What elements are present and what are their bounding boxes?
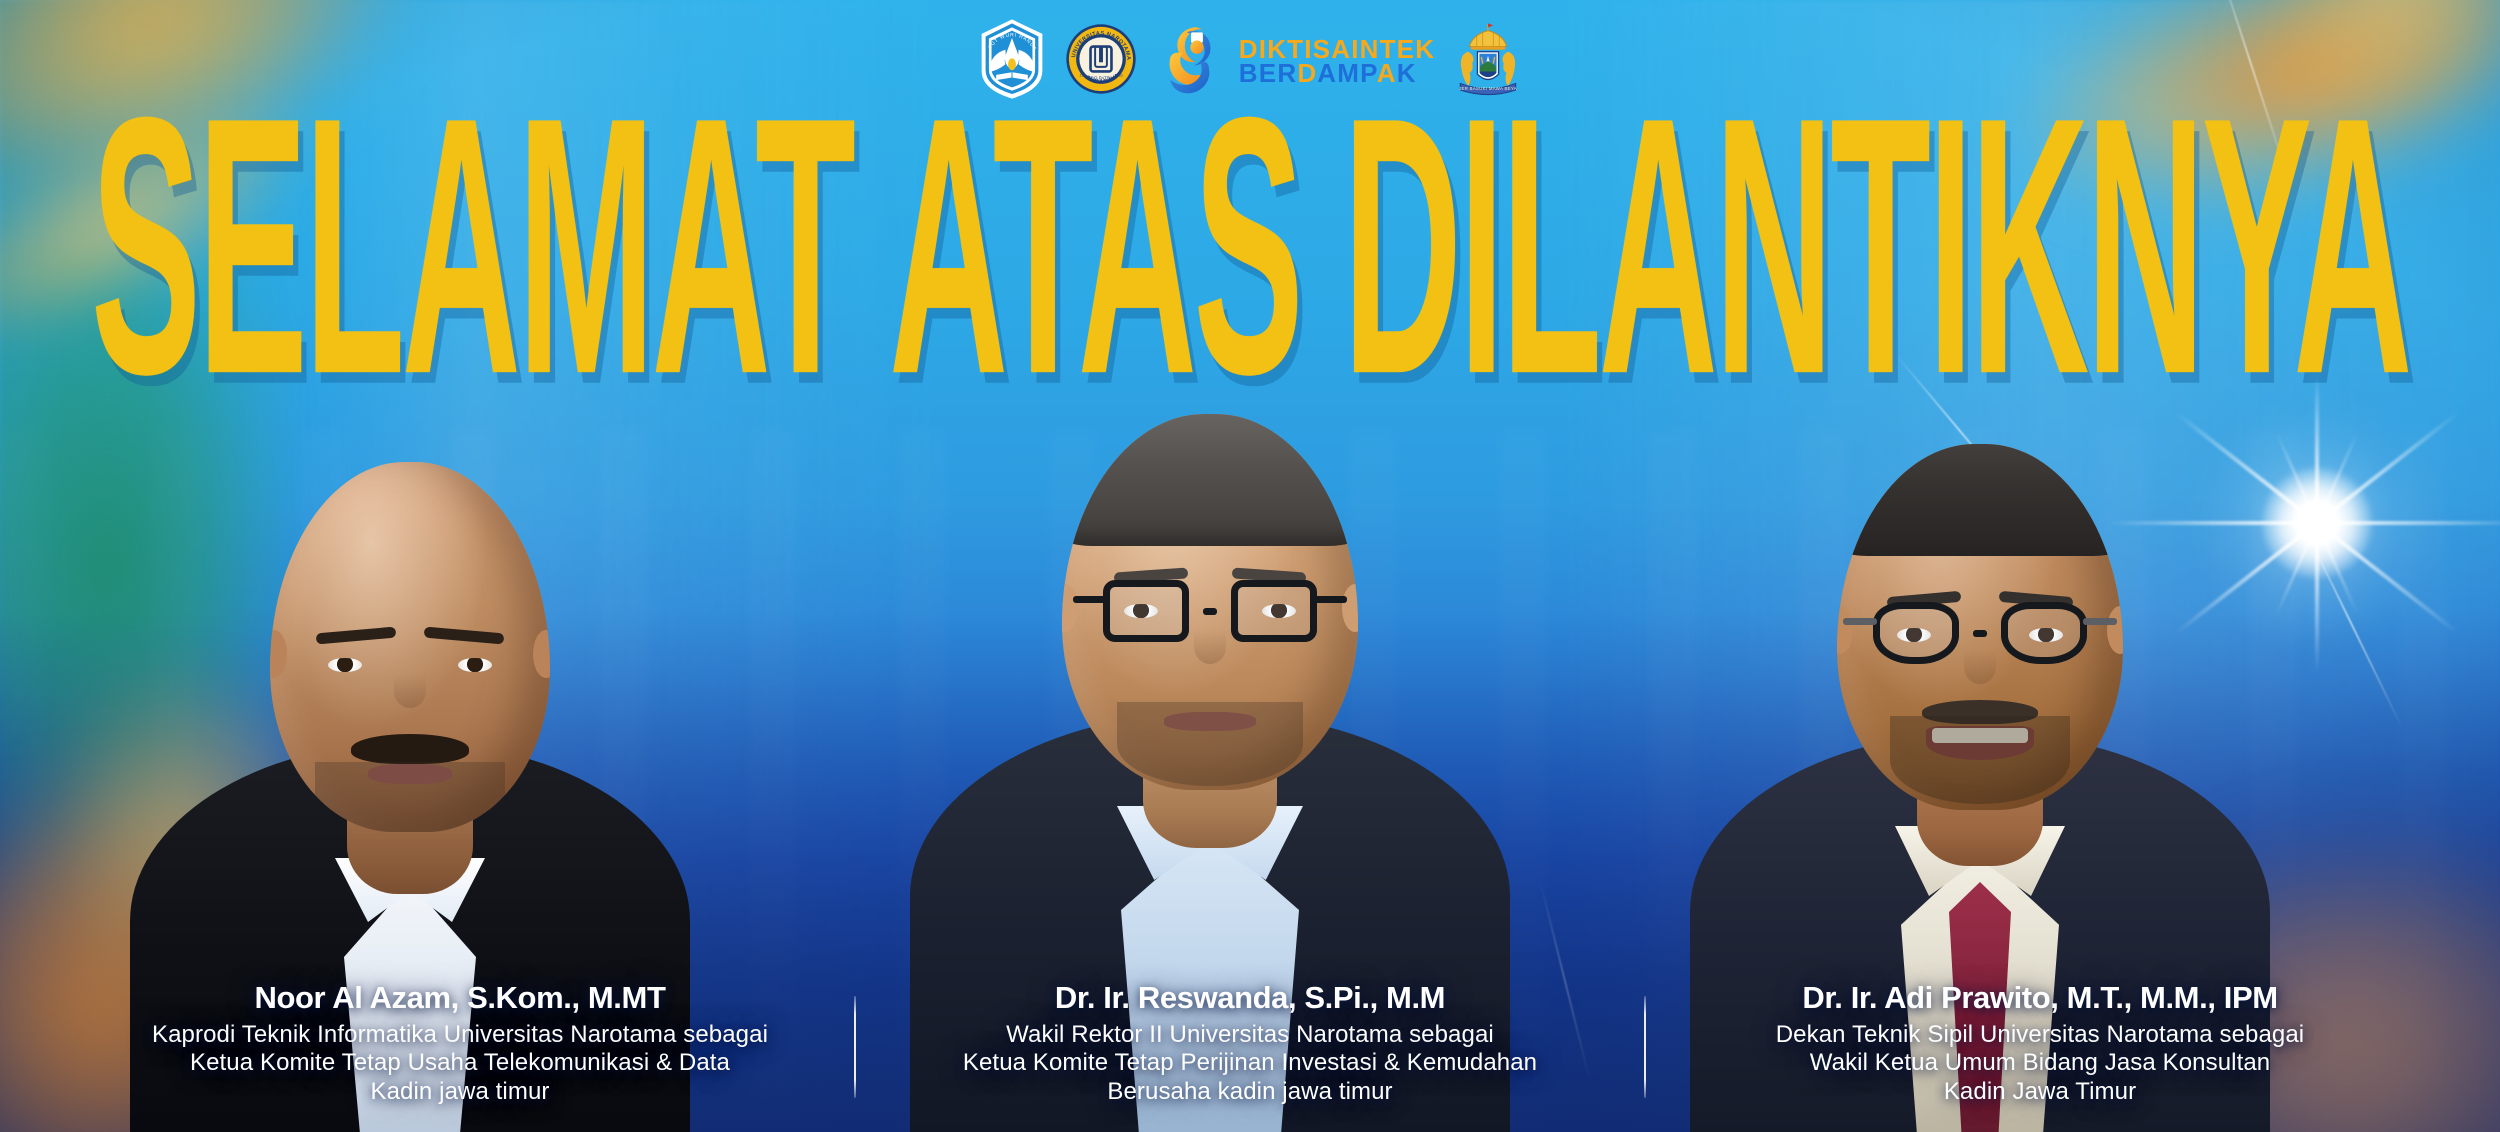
beard-shadow (1117, 702, 1303, 786)
person-2-role: Wakil Rektor II Universitas Narotama seb… (886, 1021, 1614, 1106)
glasses-bridge (1973, 630, 1987, 637)
person-1-name: Noor Al Azam, S.Kom., M.MT (96, 980, 824, 1016)
portraits-group (0, 0, 2500, 1132)
ear-right-icon (1342, 584, 1358, 632)
person-1-role: Kaprodi Teknik Informatika Universitas N… (96, 1021, 824, 1106)
beard-shadow (1890, 716, 2070, 804)
svg-text:JER BASUKI MAWA BEYA: JER BASUKI MAWA BEYA (1459, 86, 1517, 91)
tut-wuri-handayani-kemendikbud-logo: TUT WURI HANDAYANI (979, 18, 1045, 105)
person-3-role: Dekan Teknik Sipil Universitas Narotama … (1676, 1021, 2404, 1106)
person-3-role-line-3: Kadin Jawa Timur (1676, 1078, 2404, 1106)
svg-text:81: 81 (1118, 73, 1122, 78)
glasses-temple-left (1073, 596, 1107, 603)
person-1-role-line-1: Kaprodi Teknik Informatika Universitas N… (96, 1021, 824, 1049)
person-3-role-line-1: Dekan Teknik Sipil Universitas Narotama … (1676, 1021, 2404, 1049)
person-3-role-line-2: Wakil Ketua Umum Bidang Jasa Konsultan (1676, 1049, 2404, 1077)
ear-right-icon (533, 630, 550, 678)
caption-divider-2 (1644, 996, 1646, 1098)
person-2-role-line-2: Ketua Komite Tetap Perijinan Investasi &… (886, 1049, 1614, 1077)
head (1837, 444, 2123, 810)
person-2-name: Dr. Ir. Reswanda, S.Pi., M.M (886, 980, 1614, 1016)
glasses-temple-right (1313, 596, 1347, 603)
moustache-icon (351, 734, 469, 764)
diktisaintek-line2: BERDAMPAK (1239, 62, 1435, 86)
person-1-role-line-3: Kadin jawa timur (96, 1078, 824, 1106)
logo-bar: TUT WURI HANDAYANI PRO PATRIA UNIVERSITA… (0, 18, 2500, 105)
eyebrow-right (424, 627, 505, 645)
caption-divider-1 (854, 996, 856, 1098)
glasses-bridge (1203, 608, 1217, 615)
lens-left (1873, 602, 1959, 664)
glasses-temple-left (1843, 618, 1877, 625)
lens-right (2001, 602, 2087, 664)
nose (1194, 630, 1226, 664)
provinsi-jawa-timur-emblem: JER BASUKI MAWA BEYA (1455, 20, 1521, 103)
person-2-role-line-3: Berusaha kadin jawa timur (886, 1078, 1614, 1106)
head (270, 462, 550, 832)
poster-canvas: SELAMAT ATAS DILANTIKNYA (0, 0, 2500, 1132)
hair-icon (1062, 414, 1358, 546)
person-3-name: Dr. Ir. Adi Prawito, M.T., M.M., IPM (1676, 980, 2404, 1016)
diktisaintek-wordmark: DIKTISAINTEK BERDAMPAK (1239, 38, 1435, 86)
eye-right-icon (458, 658, 492, 672)
eyebrow-left (316, 627, 397, 645)
lens-right (1231, 580, 1317, 642)
caption-person-3: Dr. Ir. Adi Prawito, M.T., M.M., IPM Dek… (1670, 980, 2410, 1106)
caption-person-1: Noor Al Azam, S.Kom., M.MT Kaprodi Tekni… (90, 980, 830, 1106)
eye-left-icon (328, 658, 362, 672)
hair-icon (1837, 444, 2123, 556)
ear-left-icon (1062, 584, 1078, 632)
beard-shadow (315, 762, 505, 832)
ear-right-icon (2107, 606, 2123, 654)
svg-text:19: 19 (1079, 73, 1083, 78)
person-1-role-line-2: Ketua Komite Tetap Usaha Telekomunikasi … (96, 1049, 824, 1077)
ear-left-icon (270, 630, 287, 678)
ear-left-icon (1837, 606, 1853, 654)
captions-row: Noor Al Azam, S.Kom., M.MT Kaprodi Tekni… (0, 980, 2500, 1106)
diktisaintek-berdampak-logo: DIKTISAINTEK BERDAMPAK (1157, 25, 1435, 99)
lens-left (1103, 580, 1189, 642)
nose (1964, 650, 1996, 684)
glasses-temple-right (2083, 618, 2117, 625)
caption-person-2: Dr. Ir. Reswanda, S.Pi., M.M Wakil Rekto… (880, 980, 1620, 1106)
person-2-role-line-1: Wakil Rektor II Universitas Narotama seb… (886, 1021, 1614, 1049)
head (1062, 414, 1358, 790)
nose (394, 674, 426, 708)
universitas-narotama-surabaya-logo: PRO PATRIA UNIVERSITAS NAROTAMA SURABAYA… (1065, 23, 1137, 100)
